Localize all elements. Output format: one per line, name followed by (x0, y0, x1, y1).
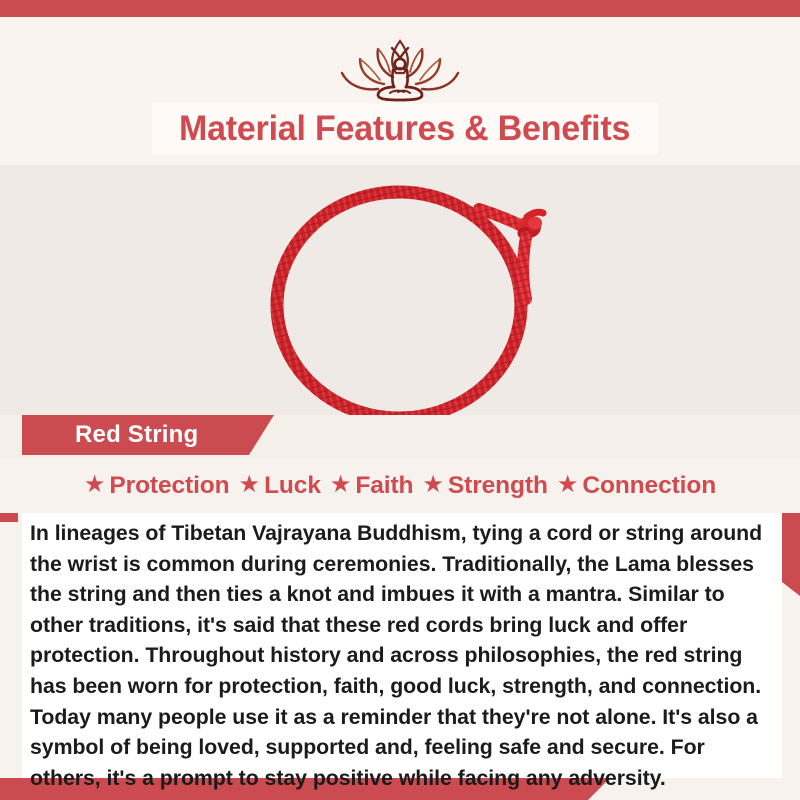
product-image-area (0, 165, 800, 415)
page-title: Material Features & Benefits (179, 109, 630, 149)
feature-item-strength: ★ Strength (422, 472, 547, 500)
description-text: In lineages of Tibetan Vajrayana Buddhis… (30, 518, 766, 793)
feature-label: Protection (109, 472, 229, 500)
lotus-meditation-figure-icon (334, 37, 466, 103)
star-icon: ★ (239, 473, 261, 497)
product-label-banner: Red String (22, 415, 274, 455)
product-label: Red String (75, 421, 198, 449)
infographic-page: BUDDHA STONES (0, 0, 800, 800)
red-braided-string-bracelet-image (236, 165, 576, 415)
feature-list: ★ Protection ★ Luck ★ Faith ★ Strength ★… (0, 459, 800, 513)
feature-label: Luck (264, 472, 321, 500)
feature-label: Faith (355, 472, 413, 500)
feature-item-protection: ★ Protection (84, 472, 230, 500)
feature-item-faith: ★ Faith (330, 472, 414, 500)
star-icon: ★ (557, 473, 579, 497)
star-icon: ★ (422, 473, 444, 497)
description-panel: In lineages of Tibetan Vajrayana Buddhis… (22, 513, 782, 778)
star-icon: ★ (84, 473, 106, 497)
top-accent-bar (0, 0, 800, 17)
star-icon: ★ (330, 473, 352, 497)
feature-label: Connection (582, 472, 716, 500)
feature-label: Strength (448, 472, 548, 500)
title-banner: Material Features & Benefits (152, 103, 658, 155)
feature-item-luck: ★ Luck (239, 472, 321, 500)
feature-item-connection: ★ Connection (557, 472, 716, 500)
